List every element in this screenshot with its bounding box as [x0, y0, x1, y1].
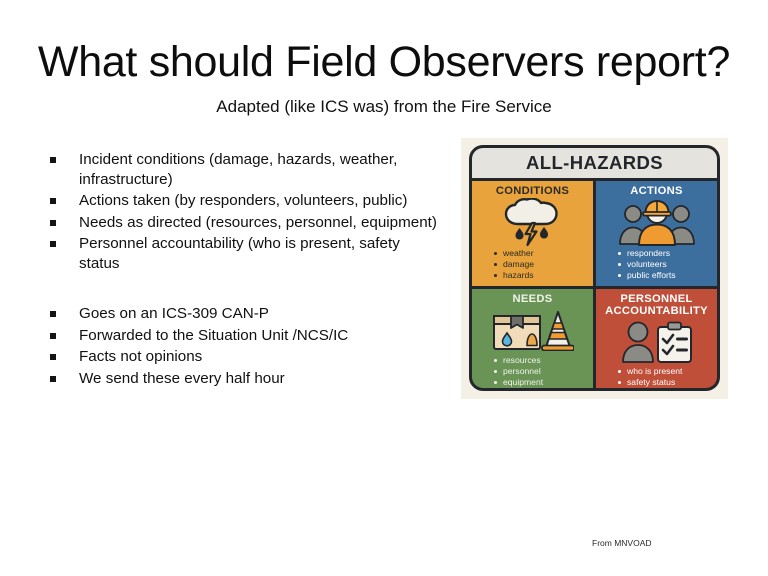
list-item: Personnel accountability (who is present… [44, 234, 439, 273]
secondary-bullet-list: Goes on an ICS-309 CAN-P Forwarded to th… [44, 304, 439, 390]
list-item: weather [494, 248, 534, 259]
all-hazards-infographic: ALL-HAZARDS CONDITIONS weather damage [461, 138, 728, 399]
list-item: safety status [618, 377, 682, 388]
list-item-label: Incident conditions (damage, hazards, we… [79, 151, 397, 188]
bullet-marker-icon [50, 220, 56, 226]
list-item-label: Forwarded to the Situation Unit /NCS/IC [79, 327, 348, 344]
quadrant-conditions: CONDITIONS weather damage hazards [472, 181, 593, 286]
list-item-label: Goes on an ICS-309 CAN-P [79, 305, 269, 322]
page-subtitle: Adapted (like ICS was) from the Fire Ser… [0, 97, 768, 117]
quadrant-conditions-title: CONDITIONS [496, 185, 569, 198]
quadrant-personnel-title: PERSONNEL ACCOUNTABILITY [605, 293, 708, 318]
list-item: responders [618, 248, 676, 259]
bullet-marker-icon [50, 376, 56, 382]
bullet-marker-icon [50, 333, 56, 339]
list-item: Actions taken (by responders, volunteers… [44, 191, 439, 211]
list-item: volunteers [618, 259, 676, 270]
list-item: Incident conditions (damage, hazards, we… [44, 150, 439, 189]
infographic-quadrant-grid: CONDITIONS weather damage hazards [472, 181, 717, 391]
quadrant-personnel-items: who is present safety status [618, 366, 682, 388]
quadrant-personnel-title-line2: ACCOUNTABILITY [605, 305, 708, 318]
list-item: Facts not opinions [44, 347, 439, 367]
bullet-marker-icon [50, 354, 56, 360]
list-item: damage [494, 259, 534, 270]
bullet-marker-icon [50, 198, 56, 204]
list-item: public efforts [618, 270, 676, 281]
list-item-label: Actions taken (by responders, volunteers… [79, 192, 407, 209]
quadrant-conditions-items: weather damage hazards [494, 248, 534, 281]
person-clipboard-icon [602, 318, 711, 367]
infographic-header: ALL-HAZARDS [472, 148, 717, 181]
footer-credit: From MNVOAD [592, 538, 652, 548]
list-item: who is present [618, 366, 682, 377]
quadrant-actions: ACTIONS [596, 181, 717, 286]
page-title: What should Field Observers report? [0, 40, 768, 85]
quadrant-actions-title: ACTIONS [630, 185, 682, 198]
supply-box-cone-icon [478, 305, 587, 355]
quadrant-actions-items: responders volunteers public efforts [618, 248, 676, 281]
list-item: Forwarded to the Situation Unit /NCS/IC [44, 326, 439, 346]
quadrant-personnel-accountability: PERSONNEL ACCOUNTABILITY [596, 289, 717, 392]
infographic-header-label: ALL-HAZARDS [526, 152, 663, 174]
list-item: personnel [494, 366, 543, 377]
quadrant-needs-items: resources personnel equipment [494, 355, 543, 388]
list-item: Goes on an ICS-309 CAN-P [44, 304, 439, 324]
infographic-frame: ALL-HAZARDS CONDITIONS weather damage [469, 145, 720, 391]
bullet-marker-icon [50, 311, 56, 317]
quadrant-needs-title: NEEDS [512, 293, 552, 306]
list-item: We send these every half hour [44, 369, 439, 389]
list-item: equipment [494, 377, 543, 388]
bullet-marker-icon [50, 241, 56, 247]
quadrant-personnel-title-line1: PERSONNEL [605, 293, 708, 306]
responders-group-icon [602, 198, 711, 248]
list-item-label: Facts not opinions [79, 348, 202, 365]
list-item: hazards [494, 270, 534, 281]
list-item-label: We send these every half hour [79, 370, 285, 387]
list-item-label: Personnel accountability (who is present… [79, 235, 400, 272]
quadrant-needs: NEEDS [472, 289, 593, 392]
storm-cloud-icon [478, 198, 587, 248]
list-item-label: Needs as directed (resources, personnel,… [79, 214, 437, 231]
list-item: resources [494, 355, 543, 366]
bullet-marker-icon [50, 157, 56, 163]
primary-bullet-list: Incident conditions (damage, hazards, we… [44, 150, 439, 275]
list-item: Needs as directed (resources, personnel,… [44, 213, 439, 233]
